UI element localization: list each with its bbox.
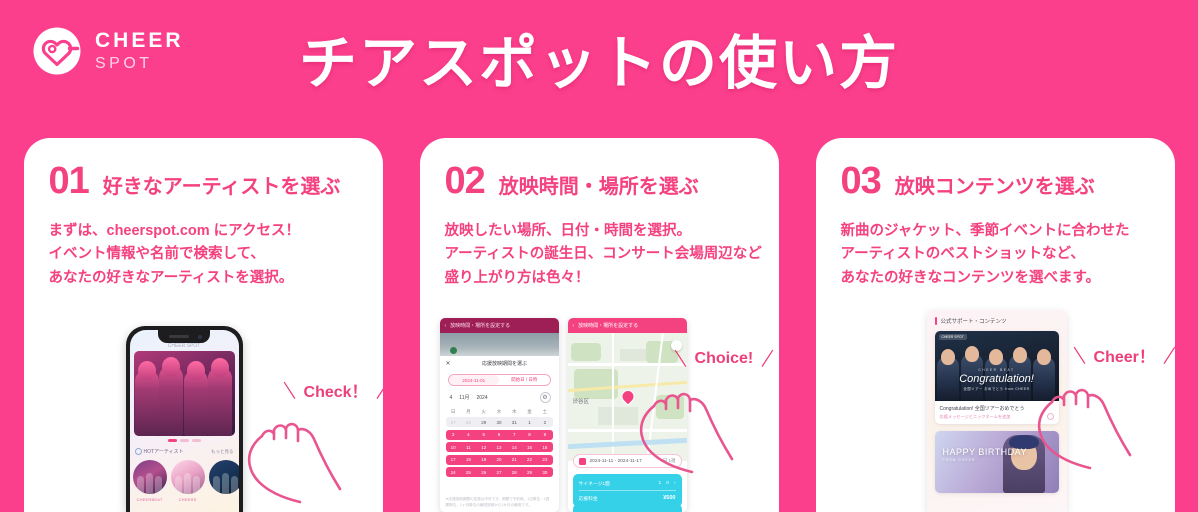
- calendar-day[interactable]: 20: [491, 455, 506, 465]
- description-line: あなたの好きなアーティストを選択。: [49, 267, 383, 290]
- artist-avatar: [133, 460, 167, 494]
- page-header: CHEER SPOT チアスポットの使い方: [0, 0, 1198, 112]
- segment-option[interactable]: 開始日 / 日時: [499, 375, 550, 385]
- calendar-day[interactable]: 21: [507, 455, 522, 465]
- annotation-choice: ＼ Choice! ／: [673, 348, 776, 369]
- calendar-day[interactable]: 4: [461, 430, 476, 440]
- card-header: 01 好きなアーティストを選ぶ: [24, 138, 383, 200]
- app-bar-title: 放映時間・場所を設定する: [578, 322, 638, 329]
- annotation-cheer: ＼ Cheer！ ／: [1072, 343, 1175, 367]
- map-pin-icon[interactable]: [622, 390, 633, 404]
- calendar-day[interactable]: 26: [476, 467, 491, 477]
- calendar-day[interactable]: 27: [491, 467, 506, 477]
- summary-row: 応援料金 ¥500: [579, 493, 676, 503]
- calendar-day[interactable]: 30: [491, 417, 506, 427]
- card-header: 03 放映コンテンツを選ぶ: [816, 138, 1175, 200]
- calendar-screenshot: ‹ 放映時間・場所を設定する ✕ 応援放映期間を選ぶ 2024-11-01 開始…: [440, 318, 559, 512]
- artist-avatar: [171, 460, 205, 494]
- weekday: 金: [522, 407, 537, 417]
- price-value: ¥500: [663, 495, 675, 501]
- pointing-hand-icon: [246, 400, 364, 512]
- calendar-day[interactable]: 28: [507, 467, 522, 477]
- step-card-03: 03 放映コンテンツを選ぶ 新曲のジャケット、季節イベントに合わせた アーティス…: [816, 138, 1175, 512]
- brand-tag: CHEER SPOT: [939, 334, 967, 340]
- gear-icon[interactable]: ⚙: [540, 392, 551, 403]
- section-title: 公式サポート・コンテンツ: [935, 317, 1059, 325]
- artist-name: CHEERS: [171, 497, 205, 502]
- carousel-dots[interactable]: [130, 439, 239, 442]
- artist-hero-image: [134, 351, 235, 436]
- card-header: 02 放映時間・場所を選ぶ: [420, 138, 779, 200]
- date-range-value: 2024-11-11 - 2024-11-17: [590, 459, 642, 464]
- segment-option[interactable]: 2024-11-01: [449, 375, 500, 385]
- overlay-title: HAPPY BIRTHDAY: [943, 447, 1028, 457]
- calendar-day[interactable]: 28: [461, 417, 476, 427]
- phone-mockup: CHEER SPOT HOTアーティスト もっと見る CHEERBEAT: [126, 326, 243, 512]
- date-mode-segment[interactable]: 2024-11-01 開始日 / 日時: [448, 374, 551, 386]
- pointing-hand-icon: [1036, 366, 1154, 483]
- calendar-day[interactable]: 29: [522, 467, 537, 477]
- thumbnail-overlay-text: HAPPY BIRTHDAY FROM CHEER: [943, 448, 1028, 463]
- description-line: アーティストの誕生日、コンサート会場周辺など: [445, 243, 779, 266]
- app-header-label: CHEER SPOT: [130, 343, 239, 349]
- tick-right-icon: ／: [373, 378, 383, 402]
- tick-left-icon: ＼: [670, 347, 689, 371]
- calendar-day[interactable]: 31: [507, 417, 522, 427]
- step-number: 02: [445, 162, 485, 200]
- close-icon[interactable]: ✕: [446, 360, 451, 367]
- pointing-hand-icon: [638, 370, 756, 487]
- annotation-label: Check！: [304, 378, 368, 402]
- overlay-sub: FROM CHEER: [943, 459, 1028, 463]
- step-title: 放映コンテンツを選ぶ: [895, 177, 1095, 197]
- year-value[interactable]: 4: [450, 395, 453, 401]
- calendar-day[interactable]: 19: [476, 455, 491, 465]
- tick-right-icon: ／: [1160, 343, 1175, 367]
- summary-label: サイネージ1面: [579, 480, 610, 487]
- calendar-day[interactable]: 18: [461, 455, 476, 465]
- description-line: 盛り上がり方は色々！: [445, 267, 779, 290]
- calendar-week[interactable]: 27 28 29 30 31 1 2: [446, 417, 553, 427]
- weekday: 日: [446, 407, 461, 417]
- month-value[interactable]: 11月: [459, 394, 469, 401]
- sheet-header: ✕ 応援放映期間を選ぶ: [440, 356, 559, 371]
- calendar-day[interactable]: 23: [537, 455, 552, 465]
- artist-thumbnail-list: CHEERBEAT CHEERS: [133, 460, 239, 502]
- description-line: 新曲のジャケット、季節イベントに合わせた: [841, 220, 1175, 243]
- step-number: 03: [841, 162, 881, 200]
- list-item[interactable]: [209, 460, 239, 502]
- step-title: 放映時間・場所を選ぶ: [499, 177, 699, 197]
- calendar-day[interactable]: 29: [476, 417, 491, 427]
- calendar-day[interactable]: 14: [507, 442, 522, 452]
- calendar-day[interactable]: 10: [446, 442, 461, 452]
- annotation-label: Cheer！: [1094, 343, 1155, 367]
- back-arrow-icon[interactable]: ‹: [573, 323, 575, 329]
- list-item[interactable]: CHEERBEAT: [133, 460, 167, 502]
- description-line: まずは、cheerspot.com にアクセス！: [49, 220, 383, 243]
- calendar-day[interactable]: 13: [491, 442, 506, 452]
- calendar-day[interactable]: 25: [461, 467, 476, 477]
- weekday: 水: [491, 407, 506, 417]
- calendar-week[interactable]: 10 11 12 13 14 15 16: [446, 442, 553, 452]
- calendar-day[interactable]: 17: [446, 455, 461, 465]
- overlay-title: Congratulation!: [959, 373, 1034, 385]
- calendar-day[interactable]: 27: [446, 417, 461, 427]
- calendar-day[interactable]: 16: [537, 442, 552, 452]
- see-more-link[interactable]: もっと見る: [211, 449, 234, 455]
- sheet-title: 応援放映期間を選ぶ: [482, 360, 527, 367]
- month-selector-row: 4 11月 2024 ⚙: [440, 386, 559, 405]
- annotation-label: Choice!: [695, 350, 754, 368]
- annotation-check: ＼ Check！ ／: [282, 378, 383, 402]
- page-title: チアスポットの使い方: [0, 16, 1198, 100]
- calendar-grid[interactable]: 日 月 火 水 木 金 土 27 28 29 30 31 1 2: [440, 405, 559, 477]
- weekday-header: 日 月 火 水 木 金 土: [446, 407, 553, 417]
- calendar-day[interactable]: 9: [537, 430, 552, 440]
- calendar-day[interactable]: 2: [537, 417, 552, 427]
- calendar-day[interactable]: 8: [522, 430, 537, 440]
- calendar-day[interactable]: 7: [507, 430, 522, 440]
- calendar-day[interactable]: 15: [522, 442, 537, 452]
- calendar-week[interactable]: 17 18 19 20 21 22 23: [446, 455, 553, 465]
- step-number: 01: [49, 162, 89, 200]
- calendar-footnote: ※応援放映期間の変更は不可です。期間で予約時、1日単位・1週間単位、1ヶ月単位の…: [440, 493, 559, 512]
- description-line: アーティストのベストショットなど、: [841, 243, 1175, 266]
- content-subtext[interactable]: 応援メッセージとニックネームを追加: [940, 414, 1011, 420]
- phone-screen: CHEER SPOT HOTアーティスト もっと見る CHEERBEAT: [130, 330, 239, 512]
- calendar-day[interactable]: 12: [476, 442, 491, 452]
- tick-left-icon: ＼: [1069, 343, 1088, 367]
- step-description: 新曲のジャケット、季節イベントに合わせた アーティストのベストショットなど、 あ…: [816, 200, 1175, 290]
- list-item[interactable]: CHEERS: [171, 460, 205, 502]
- calendar-day[interactable]: 1: [522, 417, 537, 427]
- weekday: 火: [476, 407, 491, 417]
- step-card-01: 01 好きなアーティストを選ぶ まずは、cheerspot.com にアクセス！…: [24, 138, 383, 512]
- calendar-day[interactable]: 6: [491, 430, 506, 440]
- summary-label: 応援料金: [579, 495, 598, 502]
- area-label: 渋谷区: [573, 397, 590, 405]
- app-top-bar: ‹ 放映時間・場所を設定する: [440, 318, 559, 333]
- weekday: 土: [537, 407, 552, 417]
- divider: [579, 490, 676, 491]
- description-line: イベント情報や名前で検索して、: [49, 243, 383, 266]
- step-description: 放映したい場所、日付・時間を選択。 アーティストの誕生日、コンサート会場周辺など…: [420, 200, 779, 290]
- year-label[interactable]: 2024: [476, 395, 487, 401]
- app-bar-title: 放映時間・場所を設定する: [450, 322, 510, 329]
- location-photo: [440, 333, 559, 356]
- back-arrow-icon[interactable]: ‹: [445, 323, 447, 329]
- calendar-week[interactable]: 3 4 5 6 7 8 9: [446, 430, 553, 440]
- description-line: あなたの好きなコンテンツを選べます。: [841, 267, 1175, 290]
- calendar-day[interactable]: 11: [461, 442, 476, 452]
- step-description: まずは、cheerspot.com にアクセス！ イベント情報や名前で検索して、…: [24, 200, 383, 290]
- step-title: 好きなアーティストを選ぶ: [103, 177, 341, 197]
- section-header-row: HOTアーティスト もっと見る: [135, 448, 234, 455]
- description-line: 放映したい場所、日付・時間を選択。: [445, 220, 779, 243]
- hot-artists-label: HOTアーティスト: [135, 448, 184, 455]
- calendar-day[interactable]: 22: [522, 455, 537, 465]
- artist-avatar: [209, 460, 239, 494]
- panel-continuation: [573, 504, 682, 512]
- app-top-bar: ‹ 放映時間・場所を設定する: [568, 318, 687, 333]
- calendar-day[interactable]: 5: [476, 430, 491, 440]
- weekday: 月: [461, 407, 476, 417]
- calendar-icon: [579, 458, 586, 465]
- step-card-02: 02 放映時間・場所を選ぶ 放映したい場所、日付・時間を選択。 アーティストの誕…: [420, 138, 779, 512]
- calendar-day[interactable]: 30: [537, 467, 552, 477]
- tick-left-icon: ＼: [279, 378, 298, 402]
- weekday: 木: [507, 407, 522, 417]
- calendar-week[interactable]: 24 25 26 27 28 29 30: [446, 467, 553, 477]
- artist-name: CHEERBEAT: [133, 497, 167, 502]
- calendar-day[interactable]: 24: [446, 467, 461, 477]
- phone-notch: [158, 330, 210, 343]
- tick-right-icon: ／: [758, 347, 777, 371]
- steps-container: 01 好きなアーティストを選ぶ まずは、cheerspot.com にアクセス！…: [0, 138, 1198, 512]
- calendar-day[interactable]: 3: [446, 430, 461, 440]
